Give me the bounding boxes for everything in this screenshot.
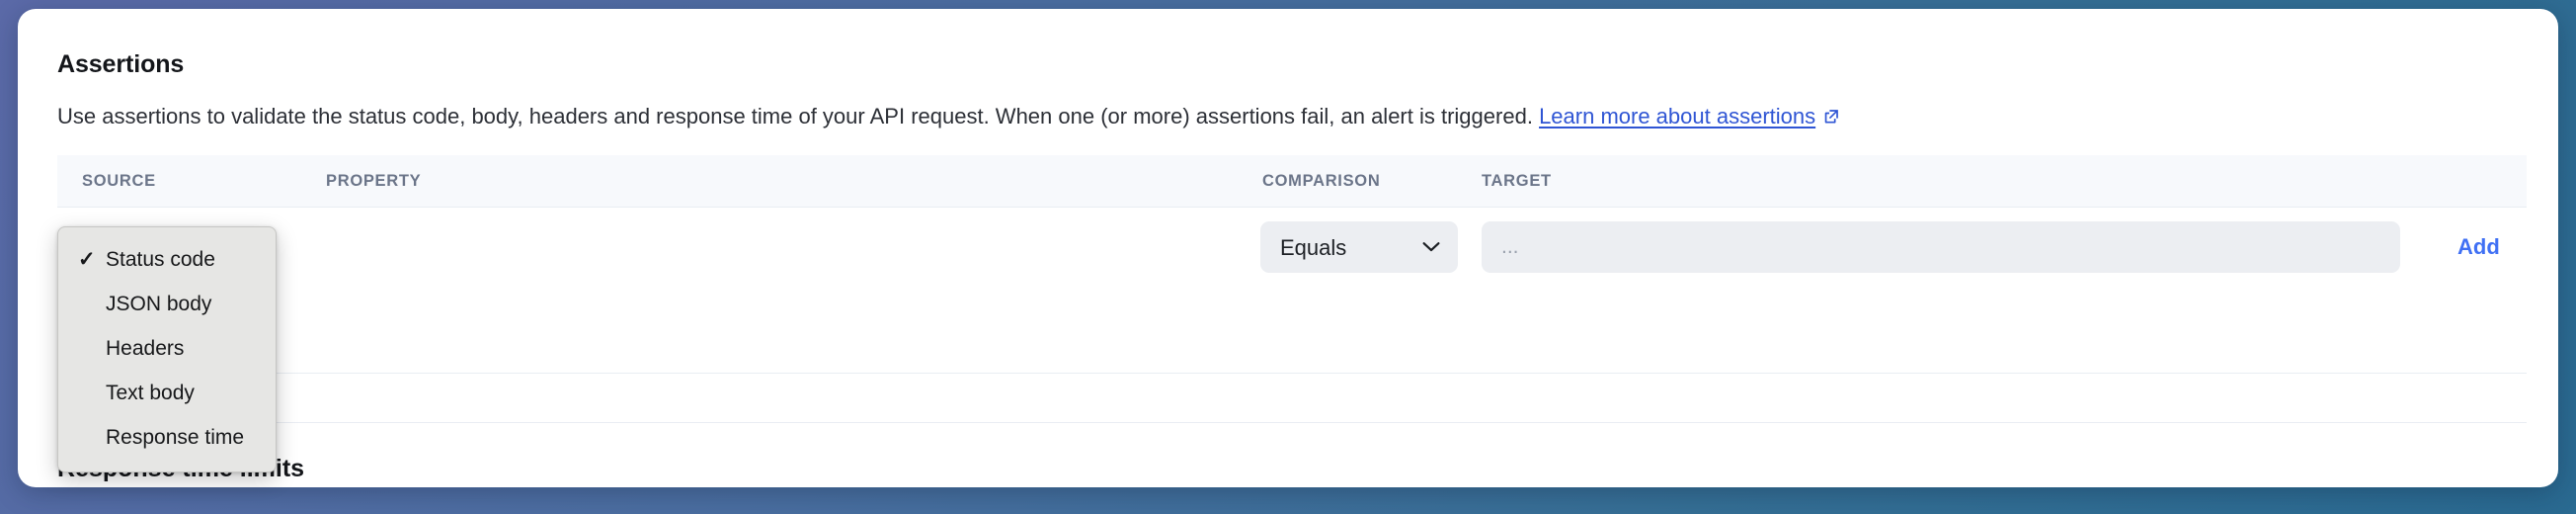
assertions-table: SOURCE PROPERTY COMPARISON TARGET Equals… [57,155,2527,289]
assertion-row: Equals Add [57,208,2527,289]
dropdown-item-status-code[interactable]: ✓ Status code [58,237,276,282]
property-input[interactable] [326,226,1215,270]
target-input[interactable] [1482,221,2400,273]
dropdown-item-label: Headers [106,337,184,360]
learn-more-link[interactable]: Learn more about assertions [1539,104,1815,128]
column-header-target: TARGET [1482,172,1552,191]
page-title: Assertions [57,50,184,79]
dropdown-item-label: Text body [106,382,195,404]
comparison-select-value: Equals [1280,235,1346,261]
source-dropdown-menu[interactable]: ✓ Status code JSON body Headers Text bod… [57,226,277,472]
section-description: Use assertions to validate the status co… [57,103,1840,131]
external-link-icon[interactable] [1823,104,1840,131]
row-divider-2 [57,422,2527,423]
dropdown-item-response-time[interactable]: Response time [58,415,276,460]
row-divider-1 [57,373,2527,374]
dropdown-item-label: Response time [106,426,244,449]
assertions-card: Assertions Use assertions to validate th… [18,9,2558,487]
checkmark-icon: ✓ [78,237,96,282]
comparison-select[interactable]: Equals [1260,221,1458,273]
section-description-text: Use assertions to validate the status co… [57,104,1533,128]
dropdown-item-label: JSON body [106,293,211,315]
dropdown-item-text-body[interactable]: Text body [58,371,276,415]
column-header-comparison: COMPARISON [1262,172,1380,191]
chevron-down-icon [1422,241,1440,259]
add-assertion-button[interactable]: Add [2457,234,2500,260]
table-header-row: SOURCE PROPERTY COMPARISON TARGET [57,155,2527,208]
column-header-source: SOURCE [82,172,156,191]
dropdown-item-json-body[interactable]: JSON body [58,282,276,326]
dropdown-item-label: Status code [106,248,215,271]
column-header-property: PROPERTY [326,172,421,191]
dropdown-item-headers[interactable]: Headers [58,326,276,371]
